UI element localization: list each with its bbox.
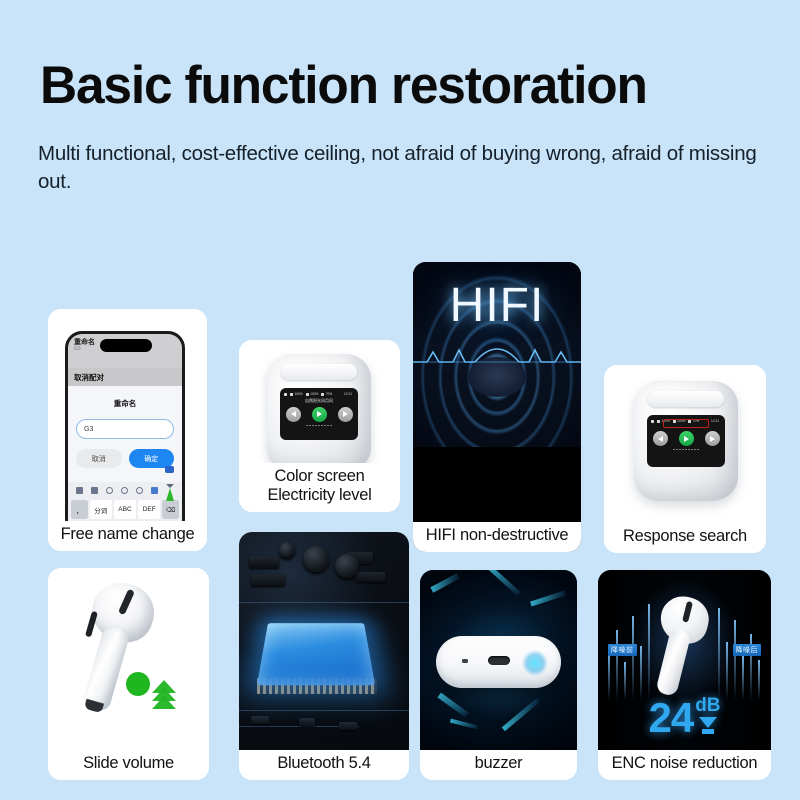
phone-status-bar: 重命名 G3: [68, 334, 182, 368]
bluetooth-chip: [257, 623, 375, 685]
key-backspace[interactable]: ⌫: [162, 500, 179, 519]
phone-mockup: 重命名 G3 取消配对 重命名 G3 取消: [65, 331, 185, 521]
promo-page: Basic function restoration Multi functio…: [0, 0, 800, 800]
bluetooth-status-icon: [284, 393, 287, 396]
battery-right: 100%: [306, 392, 319, 396]
unpair-row[interactable]: 取消配对: [68, 368, 182, 386]
case-bottom: [436, 636, 561, 688]
card-caption: buzzer: [420, 750, 577, 780]
feature-card-color-screen[interactable]: 100% 100% 70% 12:31 自然阳光风月风: [239, 340, 400, 512]
highlight-box: [663, 419, 709, 428]
card-caption: Free name change: [48, 521, 207, 551]
page-subtitle: Multi functional, cost-effective ceiling…: [38, 140, 758, 197]
card-caption: HIFI non-destructive: [413, 522, 581, 552]
phone-keyboard[interactable]: ， 分词 ABC DEF ⌫ 。 GHI JKL MNO 删除: [68, 482, 182, 521]
charging-case: 100% 100% 70% 12:31: [634, 381, 738, 501]
case-lid: [648, 391, 724, 407]
battery-case: 70%: [321, 392, 332, 396]
feature-card-buzzer[interactable]: buzzer: [420, 570, 577, 780]
card-caption: Slide volume: [48, 750, 209, 780]
enc-photo: 降噪前 降噪后 24 dB: [598, 570, 771, 750]
circuit-board-photo: [239, 532, 409, 750]
dialog-title: 重命名: [68, 398, 182, 409]
charging-case: 100% 100% 70% 12:31 自然阳光风月风: [267, 354, 371, 463]
rename-input-value: G3: [84, 426, 93, 433]
battery-left: 100%: [290, 392, 303, 396]
rename-dialog: 重命名 G3 取消 确定: [68, 386, 182, 521]
card-caption: Response search: [604, 523, 766, 553]
swipe-arrows-icon: [152, 680, 176, 704]
next-track-icon[interactable]: [338, 407, 353, 422]
feature-card-response-search[interactable]: 100% 100% 70% 12:31 R: [604, 365, 766, 553]
led-indicator-icon: [462, 659, 468, 663]
key-abc[interactable]: ABC: [114, 500, 136, 519]
now-playing-label: 自然阳光风月风: [280, 398, 358, 404]
phone-notch: [100, 339, 152, 352]
play-icon[interactable]: [312, 407, 327, 422]
keyboard-clipboard-icon[interactable]: [91, 487, 98, 494]
waveform-graphic: [413, 340, 581, 370]
keyboard-emoji-icon[interactable]: [106, 487, 113, 494]
db-unit-label: dB: [695, 696, 720, 715]
phone-screen-subtitle: G3: [74, 346, 81, 352]
feature-card-bluetooth[interactable]: Bluetooth 5.4: [239, 532, 409, 780]
touch-point-indicator: [126, 672, 150, 696]
card-caption: ENC noise reduction: [598, 750, 771, 780]
hifi-label: HIFI: [413, 278, 581, 333]
case-bottom-photo: [420, 570, 577, 750]
tag-after-noise-reduction: 降噪后: [733, 644, 762, 656]
phone-photo: 重命名 G3 取消配对 重命名 G3 取消: [48, 309, 207, 521]
buzzer-glow: [522, 650, 548, 676]
feature-card-free-name-change[interactable]: 重命名 G3 取消配对 重命名 G3 取消: [48, 309, 207, 551]
earbud: [65, 576, 160, 718]
case-lid: [281, 364, 357, 380]
keyboard-scan-icon[interactable]: [151, 487, 158, 494]
usb-c-port-icon: [488, 656, 510, 665]
down-arrow-stem-icon: [702, 729, 714, 734]
key-def[interactable]: DEF: [138, 500, 160, 519]
earbud-case-photo: 100% 100% 70% 12:31 自然阳光风月风: [239, 340, 400, 463]
caption-line-1: Color screen: [241, 467, 398, 486]
previous-track-icon[interactable]: [286, 407, 301, 422]
card-caption: Bluetooth 5.4: [239, 750, 409, 780]
tag-before-noise-reduction: 降噪前: [608, 644, 637, 656]
earbud: [643, 592, 714, 701]
page-dots: [647, 449, 725, 450]
next-track-icon[interactable]: [705, 431, 720, 446]
down-arrow-icon: [699, 717, 717, 728]
page-dots: [280, 425, 358, 426]
unpair-label: 取消配对: [74, 372, 104, 383]
earbud-case-photo: 100% 100% 70% 12:31: [604, 365, 766, 523]
keyboard-clock-icon[interactable]: [136, 487, 143, 494]
key-split[interactable]: 分词: [90, 500, 112, 519]
caption-line-2: Electricity level: [241, 486, 398, 505]
earbud-photo: [48, 568, 209, 750]
clock-label: 12:31: [344, 392, 354, 396]
bluetooth-status-icon: [651, 420, 654, 423]
rename-input[interactable]: G3: [76, 419, 174, 439]
feature-card-enc[interactable]: 降噪前 降噪后 24 dB ENC noise reduction: [598, 570, 771, 780]
keyboard-mic-icon[interactable]: [121, 487, 128, 494]
db-readout: 24 dB: [598, 696, 771, 736]
clock-label: 12:31: [711, 419, 721, 423]
page-title: Basic function restoration: [40, 58, 748, 114]
keyboard-grid-icon[interactable]: [76, 487, 83, 494]
previous-track-icon[interactable]: [653, 431, 668, 446]
chevron-down-icon[interactable]: [166, 484, 174, 501]
case-display: 100% 100% 70% 12:31: [647, 415, 725, 467]
cancel-button[interactable]: 取消: [76, 449, 122, 468]
play-icon[interactable]: [679, 431, 694, 446]
hifi-photo: HIFI: [413, 262, 581, 522]
keyboard-badge-icon: [165, 466, 174, 473]
key-comma[interactable]: ，: [71, 500, 88, 519]
case-display: 100% 100% 70% 12:31 自然阳光风月风: [280, 388, 358, 440]
feature-card-hifi[interactable]: HIFI HIFI non-destructive: [413, 262, 581, 552]
feature-card-slide-volume[interactable]: Slide volume: [48, 568, 209, 780]
db-value: 24: [648, 700, 693, 736]
card-caption: Color screen Electricity level: [239, 463, 400, 512]
